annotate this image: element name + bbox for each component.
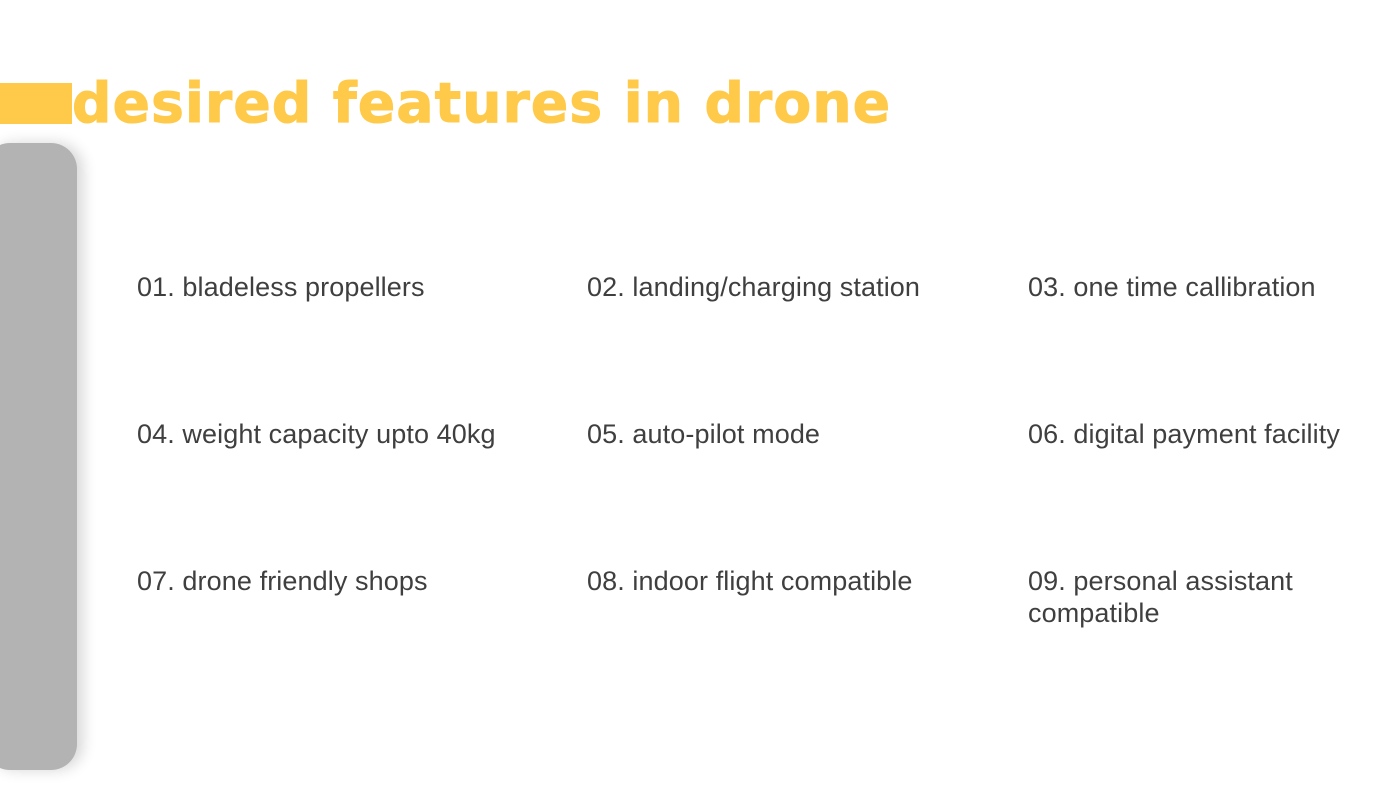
page-title: desired features in drone <box>72 74 891 132</box>
feature-item-04: 04. weight capacity upto 40kg <box>137 418 587 450</box>
feature-item-02: 02. landing/charging station <box>587 271 1028 303</box>
slide-title-row: desired features in drone <box>0 74 891 132</box>
feature-item-07: 07. drone friendly shops <box>137 565 587 597</box>
slide-canvas: desired features in drone 01. bladeless … <box>0 0 1400 788</box>
feature-item-08: 08. indoor flight compatible <box>587 565 1028 597</box>
title-accent-block <box>0 83 72 124</box>
feature-item-05: 05. auto-pilot mode <box>587 418 1028 450</box>
feature-list: 01. bladeless propellers 02. landing/cha… <box>137 271 1400 629</box>
decorative-side-panel <box>0 143 77 770</box>
feature-item-06: 06. digital payment facility <box>1028 418 1400 450</box>
feature-item-01: 01. bladeless propellers <box>137 271 587 303</box>
feature-item-09: 09. personal assistant compatible <box>1028 565 1400 629</box>
feature-item-03: 03. one time callibration <box>1028 271 1400 303</box>
